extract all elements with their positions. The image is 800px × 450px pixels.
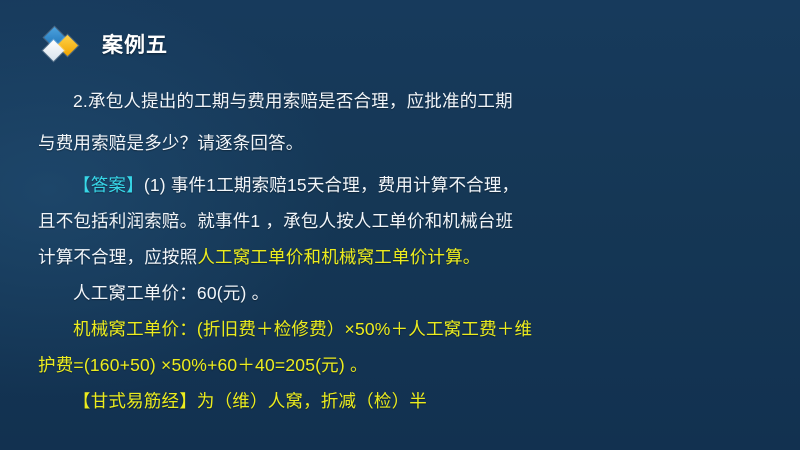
slide-header: 案例五 [0,22,800,66]
answer-line-1: 【答案】(1) 事件1工期索赔15天合理，费用计算不合理， [38,168,770,203]
question-line-1: 2.承包人提出的工期与费用索赔是否合理，应批准的工期 [38,84,770,119]
answer-line-2-text: 且不包括利润索赔。就事件1 ，承包人按人工单价和机械台班 [38,211,513,231]
question-line-1-text: 2.承包人提出的工期与费用索赔是否合理，应批准的工期 [73,91,513,111]
answer-line-2: 且不包括利润索赔。就事件1 ，承包人按人工单价和机械台班 [38,204,770,239]
slide-title: 案例五 [102,29,168,59]
answer-line-4: 人工窝工单价：60(元) 。 [38,276,770,311]
answer-line-3: 计算不合理，应按照人工窝工单价和机械窝工单价计算。 [38,240,770,275]
answer-line-3-plain: 计算不合理，应按照 [38,247,197,267]
answer-line-1-text: (1) 事件1工期索赔15天合理，费用计算不合理， [144,175,519,195]
answer-label: 【答案】 [73,175,144,195]
mnemonic-text: 【甘式易筋经】为（维）人窝，折减（检）半 [73,391,427,411]
answer-line-6: 护费=(160+50) ×50%+60＋40=205(元) 。 [38,348,770,383]
labor-idle-rate-text: 人工窝工单价：60(元) 。 [73,283,269,303]
answer-line-5: 机械窝工单价：(折旧费＋检修费）×50%＋人工窝工费＋维 [38,312,770,347]
slide-canvas: 案例五 2.承包人提出的工期与费用索赔是否合理，应批准的工期 与费用索赔是多少？… [0,0,800,450]
question-line-2: 与费用索赔是多少？请逐条回答。 [38,126,770,161]
answer-line-3-highlight: 人工窝工单价和机械窝工单价计算。 [197,247,480,267]
slide-body: 2.承包人提出的工期与费用索赔是否合理，应批准的工期 与费用索赔是多少？请逐条回… [38,84,770,419]
question-line-2-text: 与费用索赔是多少？请逐条回答。 [38,133,304,153]
machine-idle-rate-formula: 护费=(160+50) ×50%+60＋40=205(元) 。 [38,355,368,375]
diamond-logo-icon [42,27,88,61]
answer-line-7: 【甘式易筋经】为（维）人窝，折减（检）半 [38,384,770,419]
machine-idle-rate-text: 机械窝工单价：(折旧费＋检修费）×50%＋人工窝工费＋维 [73,319,532,339]
